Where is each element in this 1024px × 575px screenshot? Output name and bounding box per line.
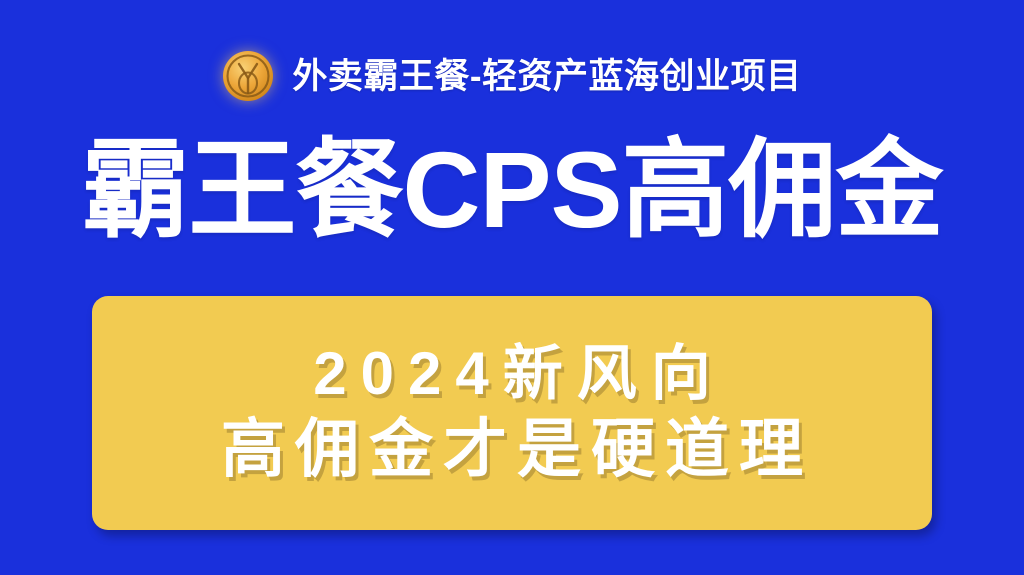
highlight-panel: 2024新风向 高佣金才是硬道理 — [92, 296, 932, 530]
highlight-line-1: 2024新风向 — [299, 342, 724, 406]
promo-poster: 外卖霸王餐-轻资产蓝海创业项目 霸王餐CPS高佣金 2024新风向 高佣金才是硬… — [0, 0, 1024, 575]
golden-circle-y-logo-icon — [222, 50, 274, 102]
highlight-line-2: 高佣金才是硬道理 — [211, 416, 813, 484]
main-title: 霸王餐CPS高佣金 — [0, 131, 1024, 249]
header-row: 外卖霸王餐-轻资产蓝海创业项目 — [0, 34, 1024, 118]
header-subtitle: 外卖霸王餐-轻资产蓝海创业项目 — [292, 59, 801, 94]
